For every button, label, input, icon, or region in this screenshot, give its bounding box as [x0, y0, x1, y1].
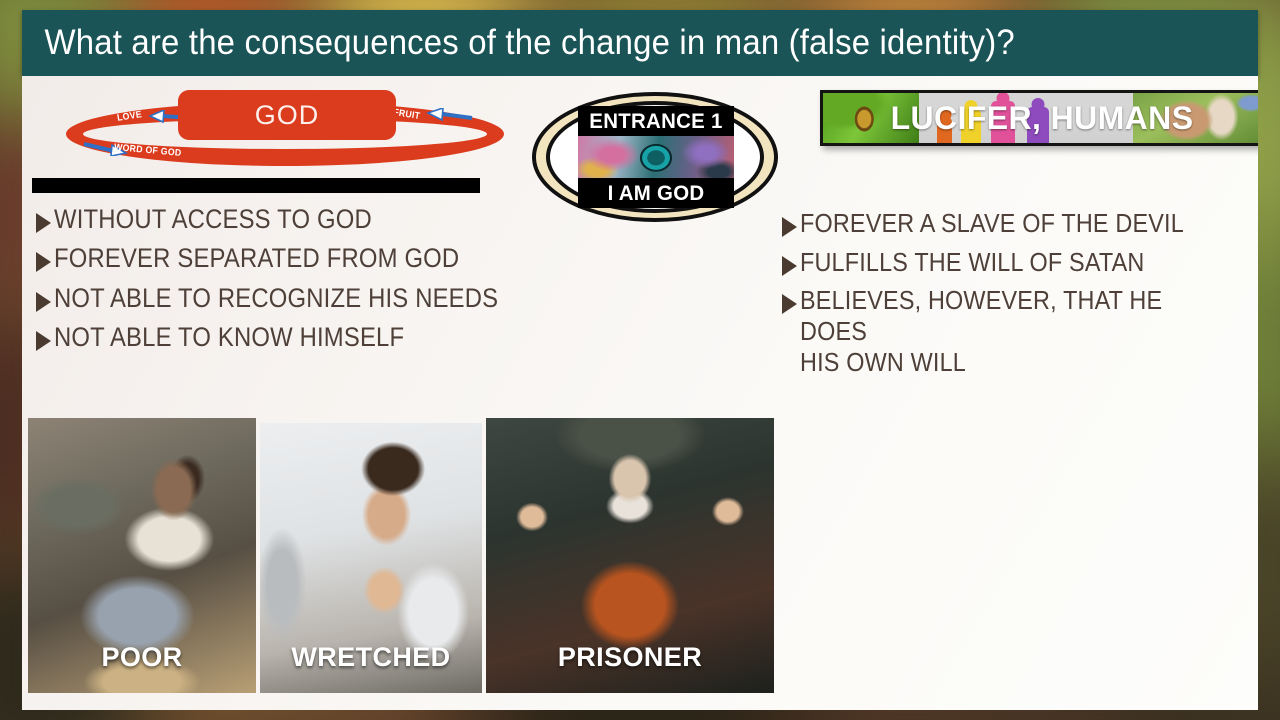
photo-strip: POOR WRETCHED PRISONER — [22, 418, 1258, 708]
list-item: FOREVER SEPARATED FROM GOD — [36, 243, 576, 274]
photo-caption: PRISONER — [486, 642, 774, 673]
bullet-text: NOT ABLE TO KNOW HIMSELF — [54, 322, 404, 353]
triangle-bullet-icon — [36, 252, 51, 272]
right-bullet-list: FOREVER A SLAVE OF THE DEVIL FULFILLS TH… — [782, 208, 1258, 385]
photo-caption: POOR — [28, 642, 256, 673]
lucifer-humans-banner: LUCIFER, HUMANS — [820, 90, 1258, 146]
bullet-text: FOREVER SEPARATED FROM GOD — [54, 243, 459, 274]
list-item: BELIEVES, HOWEVER, THAT HE DOES HIS OWN … — [782, 285, 1258, 377]
slide-body: LOVE WORD OF GOD FRUIT GOD WITHOUT ACCES… — [22, 76, 1258, 710]
photo-caption: WRETCHED — [260, 642, 482, 673]
presentation-slide: What are the consequences of the change … — [0, 0, 1280, 720]
triangle-bullet-icon — [782, 256, 797, 276]
bullet-text: WITHOUT ACCESS TO GOD — [54, 204, 372, 235]
page-title: What are the consequences of the change … — [22, 23, 1015, 63]
bullet-text: NOT ABLE TO RECOGNIZE HIS NEEDS — [54, 283, 498, 314]
god-center-label: GOD — [255, 100, 320, 131]
triangle-bullet-icon — [36, 331, 51, 351]
list-item: FOREVER A SLAVE OF THE DEVIL — [782, 208, 1258, 239]
entrance-card: ENTRANCE 1 I AM GOD — [578, 106, 734, 208]
triangle-bullet-icon — [782, 294, 797, 314]
list-item: WITHOUT ACCESS TO GOD — [36, 204, 576, 235]
slide-title-bar: What are the consequences of the change … — [22, 10, 1258, 76]
triangle-bullet-icon — [36, 213, 51, 233]
god-cycle-diagram: LOVE WORD OF GOD FRUIT GOD — [44, 88, 504, 174]
fruit-arrow-icon — [426, 108, 474, 122]
left-bullet-list: WITHOUT ACCESS TO GOD FOREVER SEPARATED … — [36, 204, 576, 361]
bullet-text: FOREVER A SLAVE OF THE DEVIL — [800, 208, 1184, 239]
photo-card-poor: POOR — [28, 418, 256, 693]
list-item: NOT ABLE TO RECOGNIZE HIS NEEDS — [36, 283, 576, 314]
entrance-bottom-label: I AM GOD — [582, 178, 730, 208]
black-divider-bar — [32, 178, 480, 193]
photo-card-wretched: WRETCHED — [260, 423, 482, 693]
god-center-box: GOD — [178, 90, 396, 140]
eye-image — [578, 136, 734, 178]
list-item: FULFILLS THE WILL OF SATAN — [782, 247, 1258, 278]
banner-title: LUCIFER, HUMANS — [823, 93, 1258, 143]
bullet-text: FULFILLS THE WILL OF SATAN — [800, 247, 1144, 278]
entrance-top-label: ENTRANCE 1 — [582, 106, 730, 136]
entrance-badge: ENTRANCE 1 I AM GOD — [522, 92, 788, 226]
triangle-bullet-icon — [782, 217, 797, 237]
bullet-text: BELIEVES, HOWEVER, THAT HE DOES HIS OWN … — [800, 285, 1216, 377]
triangle-bullet-icon — [36, 292, 51, 312]
photo-card-prisoner: PRISONER — [486, 418, 774, 693]
list-item: NOT ABLE TO KNOW HIMSELF — [36, 322, 576, 353]
